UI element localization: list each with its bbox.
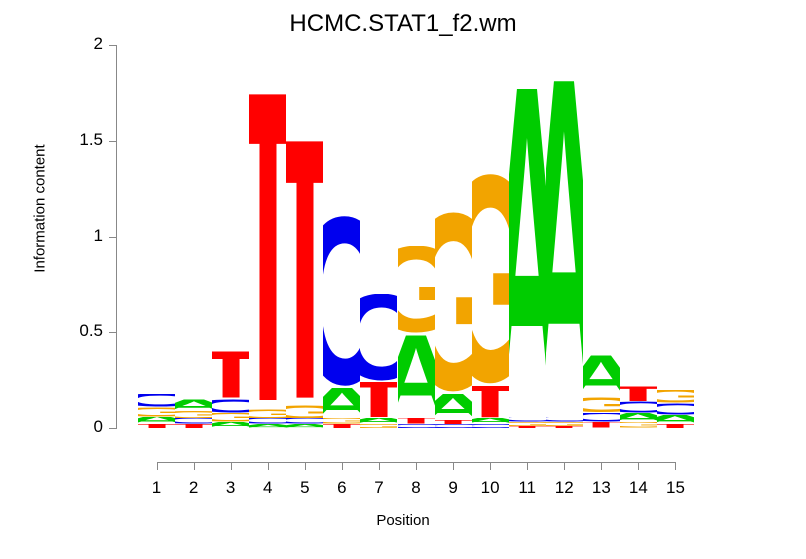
- logo-letter-glyph: A: [509, 83, 546, 416]
- x-axis-tick: [379, 462, 380, 470]
- logo-letter-t: T: [138, 424, 175, 428]
- logo-letter-c: C: [398, 424, 435, 428]
- x-axis-label: Position: [0, 512, 806, 529]
- logo-letter-t: T: [620, 386, 657, 401]
- logo-letter-glyph: G: [657, 390, 694, 403]
- x-axis-tick: [453, 462, 454, 470]
- logo-letter-glyph: T: [138, 424, 175, 428]
- logo-stack: GATC: [435, 45, 472, 428]
- logo-letter-g: G: [435, 212, 472, 394]
- x-axis-tick: [305, 462, 306, 470]
- logo-letter-glyph: G: [435, 212, 472, 394]
- logo-letter-glyph: C: [472, 424, 509, 428]
- logo-letter-glyph: G: [620, 422, 657, 428]
- logo-letter-t: T: [323, 424, 360, 428]
- logo-letter-glyph: G: [249, 409, 286, 419]
- x-axis-tick: [231, 462, 232, 470]
- logo-stack: ACGT: [546, 45, 583, 428]
- logo-letter-glyph: G: [286, 405, 323, 418]
- y-axis-tick: [109, 141, 117, 142]
- x-axis-tick: [342, 462, 343, 470]
- y-axis-tick: [109, 45, 117, 46]
- y-axis-tick-label: 2: [55, 34, 103, 54]
- x-axis-tick-label: 4: [253, 478, 283, 498]
- x-axis-tick: [638, 462, 639, 470]
- logo-letter-glyph: T: [472, 386, 509, 419]
- logo-letter-c: C: [323, 215, 360, 387]
- logo-letter-glyph: A: [583, 355, 620, 397]
- logo-letter-glyph: G: [472, 173, 509, 386]
- logo-letter-a: A: [398, 334, 435, 418]
- logo-letter-c: C: [360, 294, 397, 382]
- logo-letter-glyph: C: [323, 215, 360, 387]
- logo-letter-glyph: T: [657, 424, 694, 428]
- y-axis-tick-label: 0: [55, 417, 103, 437]
- x-axis-tick-label: 1: [142, 478, 172, 498]
- logo-letter-glyph: G: [398, 246, 435, 334]
- logo-letter-a: A: [509, 83, 546, 416]
- logo-letter-c: C: [212, 399, 249, 412]
- logo-stack: CTAG: [360, 45, 397, 428]
- logo-letter-glyph: T: [509, 426, 546, 428]
- x-axis-tick: [527, 462, 528, 470]
- logo-letter-glyph: C: [398, 424, 435, 428]
- y-axis-label: Information content: [32, 9, 49, 409]
- logo-letter-t: T: [286, 137, 323, 405]
- x-axis-tick: [601, 462, 602, 470]
- logo-letter-g: G: [360, 424, 397, 428]
- logo-letter-g: G: [472, 173, 509, 386]
- x-axis-tick-label: 14: [623, 478, 653, 498]
- x-axis-tick-label: 9: [438, 478, 468, 498]
- logo-letter-glyph: A: [398, 334, 435, 418]
- x-axis-tick: [490, 462, 491, 470]
- logo-letter-glyph: T: [546, 426, 583, 428]
- logo-letter-glyph: T: [620, 386, 657, 401]
- x-axis-tick-label: 6: [327, 478, 357, 498]
- logo-letter-a: A: [175, 399, 212, 410]
- logo-stack: AGCT: [175, 45, 212, 428]
- logo-letter-a: A: [546, 76, 583, 417]
- x-axis-tick-label: 7: [364, 478, 394, 498]
- sequence-logo-figure: HCMC.STAT1_f2.wm Information content Pos…: [0, 0, 806, 559]
- x-axis-tick-label: 13: [586, 478, 616, 498]
- x-axis-tick: [268, 462, 269, 470]
- logo-letter-glyph: G: [138, 407, 175, 417]
- x-axis-tick-label: 15: [660, 478, 690, 498]
- logo-letter-c: C: [583, 413, 620, 423]
- logo-letter-a: A: [286, 424, 323, 428]
- x-axis-tick: [194, 462, 195, 470]
- y-axis-tick-label: 0.5: [55, 321, 103, 341]
- x-axis-tick: [675, 462, 676, 470]
- logo-letter-glyph: C: [138, 394, 175, 407]
- logo-letter-glyph: T: [286, 137, 323, 405]
- logo-letter-g: G: [175, 411, 212, 419]
- logo-stack: TGCA: [249, 45, 286, 428]
- logo-letter-a: A: [212, 422, 249, 428]
- logo-letter-glyph: A: [212, 422, 249, 428]
- logo-letter-t: T: [546, 426, 583, 428]
- x-axis-tick-label: 8: [401, 478, 431, 498]
- logo-letter-glyph: A: [323, 388, 360, 419]
- logo-letter-a: A: [138, 417, 175, 425]
- x-axis-tick-label: 2: [179, 478, 209, 498]
- logo-letter-c: C: [657, 403, 694, 414]
- logo-letter-glyph: C: [620, 401, 657, 412]
- logo-letter-glyph: A: [435, 394, 472, 421]
- logo-letter-g: G: [583, 397, 620, 412]
- page-title: HCMC.STAT1_f2.wm: [0, 10, 806, 38]
- logo-letter-glyph: C: [583, 413, 620, 423]
- y-axis-tick: [109, 428, 117, 429]
- logo-letter-glyph: C: [212, 399, 249, 412]
- logo-letter-glyph: G: [583, 397, 620, 412]
- y-axis-tick: [109, 237, 117, 238]
- logo-letter-glyph: A: [138, 417, 175, 425]
- logo-stack: GTAC: [472, 45, 509, 428]
- logo-letter-g: G: [286, 405, 323, 418]
- logo-letter-t: T: [175, 424, 212, 428]
- logo-letter-glyph: T: [583, 422, 620, 428]
- logo-stack: TCGA: [212, 45, 249, 428]
- logo-letter-glyph: T: [175, 424, 212, 428]
- x-axis-tick-label: 10: [475, 478, 505, 498]
- logo-stack: GATC: [398, 45, 435, 428]
- logo-stack: ACGT: [509, 45, 546, 428]
- logo-stack: TCAG: [620, 45, 657, 428]
- x-axis-tick-label: 3: [216, 478, 246, 498]
- logo-stack: CAGT: [323, 45, 360, 428]
- logo-letter-glyph: G: [360, 424, 397, 428]
- logo-letter-g: G: [620, 422, 657, 428]
- logo-stack: GCAT: [657, 45, 694, 428]
- logo-plot-area: CGATAGCTTCGATGCATGCACAGTCTAGGATCGATCGTAC…: [138, 45, 694, 428]
- logo-letter-a: A: [323, 388, 360, 419]
- logo-letter-t: T: [472, 386, 509, 419]
- logo-letter-a: A: [657, 415, 694, 425]
- logo-letter-g: G: [398, 246, 435, 334]
- logo-letter-glyph: A: [620, 413, 657, 423]
- logo-letter-a: A: [435, 394, 472, 421]
- y-axis-tick-label: 1: [55, 226, 103, 246]
- logo-letter-t: T: [249, 89, 286, 409]
- logo-stack: TGCA: [286, 45, 323, 428]
- logo-letter-a: A: [249, 424, 286, 428]
- logo-letter-t: T: [509, 426, 546, 428]
- logo-letter-glyph: G: [212, 413, 249, 423]
- logo-letter-g: G: [657, 390, 694, 403]
- logo-stack: CGAT: [138, 45, 175, 428]
- logo-letter-glyph: T: [212, 351, 249, 399]
- logo-letter-c: C: [138, 394, 175, 407]
- logo-letter-t: T: [360, 382, 397, 418]
- logo-letter-t: T: [657, 424, 694, 428]
- logo-letter-glyph: A: [249, 424, 286, 428]
- logo-letter-glyph: A: [286, 424, 323, 428]
- logo-letter-c: C: [620, 401, 657, 412]
- logo-letter-g: G: [249, 409, 286, 419]
- logo-stack: AGCT: [583, 45, 620, 428]
- x-axis-tick-label: 12: [549, 478, 579, 498]
- logo-letter-glyph: A: [546, 76, 583, 417]
- x-axis-tick: [157, 462, 158, 470]
- logo-letter-c: C: [472, 424, 509, 428]
- logo-letter-a: A: [583, 355, 620, 397]
- logo-letter-t: T: [212, 351, 249, 399]
- y-axis-tick-label: 1.5: [55, 130, 103, 150]
- x-axis-tick: [564, 462, 565, 470]
- logo-letter-glyph: T: [249, 89, 286, 409]
- logo-letter-glyph: T: [360, 382, 397, 418]
- logo-letter-c: C: [435, 424, 472, 428]
- logo-letter-glyph: A: [175, 399, 212, 410]
- logo-letter-g: G: [212, 413, 249, 423]
- y-axis-tick: [109, 332, 117, 333]
- logo-letter-glyph: C: [360, 294, 397, 382]
- logo-letter-a: A: [620, 413, 657, 423]
- logo-letter-glyph: C: [657, 403, 694, 414]
- x-axis-tick-label: 11: [512, 478, 542, 498]
- x-axis-tick-label: 5: [290, 478, 320, 498]
- logo-letter-t: T: [583, 422, 620, 428]
- logo-letter-glyph: T: [323, 424, 360, 428]
- logo-letter-glyph: C: [435, 424, 472, 428]
- logo-letter-glyph: A: [657, 415, 694, 425]
- logo-letter-glyph: G: [175, 411, 212, 419]
- logo-letter-g: G: [138, 407, 175, 417]
- x-axis-tick: [416, 462, 417, 470]
